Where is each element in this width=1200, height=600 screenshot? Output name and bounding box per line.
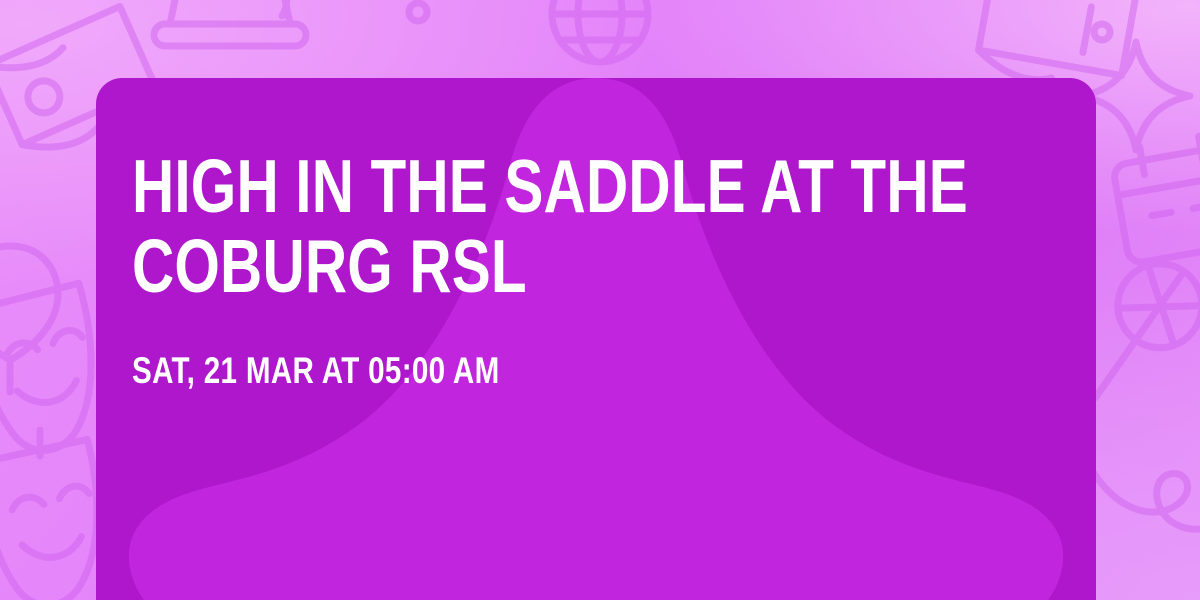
calendar-icon [1110, 131, 1200, 264]
theater-mask-icon [0, 439, 107, 600]
event-card[interactable]: High in the Saddle at the Coburg RSL Sat… [96, 78, 1096, 600]
card-content: High in the Saddle at the Coburg RSL Sat… [132, 146, 1056, 391]
event-title: High in the Saddle at the Coburg RSL [132, 146, 1055, 307]
balloon-icon [0, 246, 58, 392]
laptop-icon [154, 0, 306, 46]
event-date: Sat, 21 Mar at 05:00 AM [132, 351, 1056, 392]
event-banner: High in the Saddle at the Coburg RSL Sat… [0, 0, 1200, 600]
confetti-dot-icon [1094, 24, 1110, 40]
sparkle-icon [1082, 42, 1190, 150]
globe-icon [552, 0, 648, 62]
confetti-dot-icon [409, 3, 427, 21]
squiggle-icon [1092, 470, 1200, 529]
